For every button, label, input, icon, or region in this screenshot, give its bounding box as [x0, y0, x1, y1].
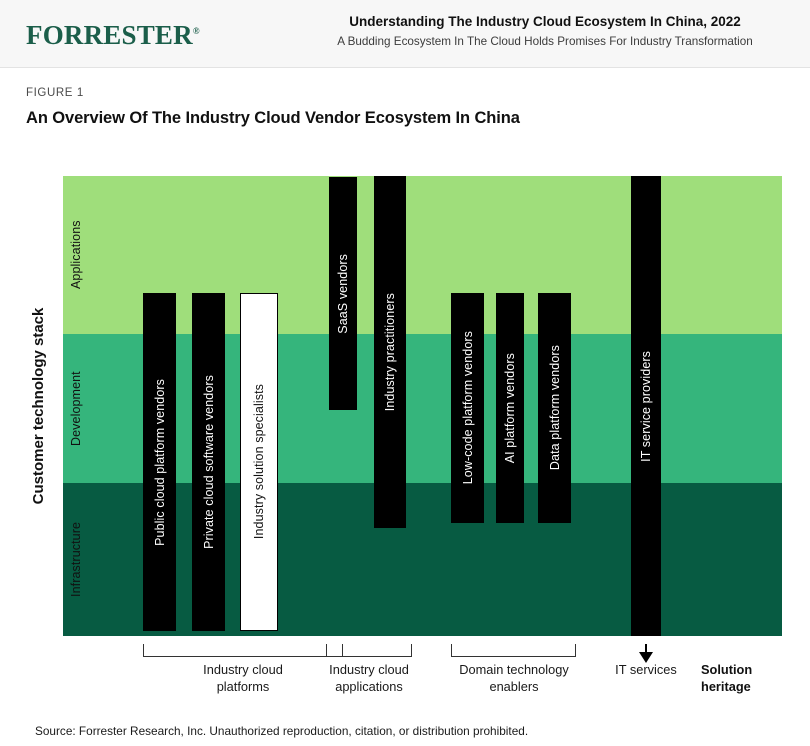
group-label-line2: heritage: [701, 678, 810, 695]
vendor-bar-label: IT service providers: [639, 351, 653, 462]
vendor-bar-data-platform-vendors[interactable]: Data platform vendors: [538, 293, 571, 523]
plot-area: ApplicationsDevelopmentInfrastructurePub…: [63, 176, 782, 636]
band-label-applications: Applications: [69, 186, 83, 324]
vendor-bar-private-cloud-software-vendors[interactable]: Private cloud software vendors: [192, 293, 225, 631]
band-label-development: Development: [69, 344, 83, 473]
source-note: Source: Forrester Research, Inc. Unautho…: [35, 724, 528, 738]
vendor-bar-industry-practitioners[interactable]: Industry practitioners: [374, 176, 406, 528]
vendor-bar-label: Industry practitioners: [383, 293, 397, 411]
vendor-bar-saas-vendors[interactable]: SaaS vendors: [329, 177, 357, 410]
group-bracket-industry-cloud-platforms: [143, 644, 343, 657]
group-label-it-services: IT services: [583, 661, 709, 678]
group-label-line2: platforms: [143, 678, 343, 695]
chart-container: Customer technology stack ApplicationsDe…: [0, 0, 810, 746]
vendor-bar-label: AI platform vendors: [503, 353, 517, 463]
group-label-domain-technology: Domain technologyenablers: [443, 661, 585, 695]
group-bracket-industry-cloud-applications: [326, 644, 412, 657]
x-axis-title: Solutionheritage: [701, 661, 810, 695]
group-bracket-domain-technology-enablers: [451, 644, 576, 657]
vendor-bar-public-cloud-platform-vendors[interactable]: Public cloud platform vendors: [143, 293, 176, 631]
vendor-bar-low-code-platform-vendors[interactable]: Low-code platform vendors: [451, 293, 484, 523]
vendor-bar-label: Industry solution specialists: [252, 384, 266, 539]
vendor-bar-it-service-providers[interactable]: IT service providers: [631, 176, 661, 636]
vendor-bar-ai-platform-vendors[interactable]: AI platform vendors: [496, 293, 524, 523]
band-label-infrastructure: Infrastructure: [69, 493, 83, 626]
vendor-bar-label: Low-code platform vendors: [461, 331, 475, 484]
group-label-line1: Industry cloud: [321, 661, 417, 678]
vendor-bar-label: Public cloud platform vendors: [153, 379, 167, 546]
group-label-industry-cloud: Industry cloudapplications: [321, 661, 417, 695]
group-label-industry-cloud: Industry cloudplatforms: [143, 661, 343, 695]
group-label-line1: Solution: [701, 661, 810, 678]
group-label-line1: Industry cloud: [143, 661, 343, 678]
vendor-bar-label: SaaS vendors: [336, 254, 350, 334]
group-label-line1: IT services: [583, 661, 709, 678]
group-label-line1: Domain technology: [443, 661, 585, 678]
vendor-bar-industry-solution-specialists[interactable]: Industry solution specialists: [240, 293, 278, 631]
vendor-bar-label: Data platform vendors: [548, 345, 562, 470]
group-label-line2: applications: [321, 678, 417, 695]
y-axis-title: Customer technology stack: [28, 176, 50, 636]
vendor-bar-label: Private cloud software vendors: [202, 375, 216, 549]
group-label-line2: enablers: [443, 678, 585, 695]
